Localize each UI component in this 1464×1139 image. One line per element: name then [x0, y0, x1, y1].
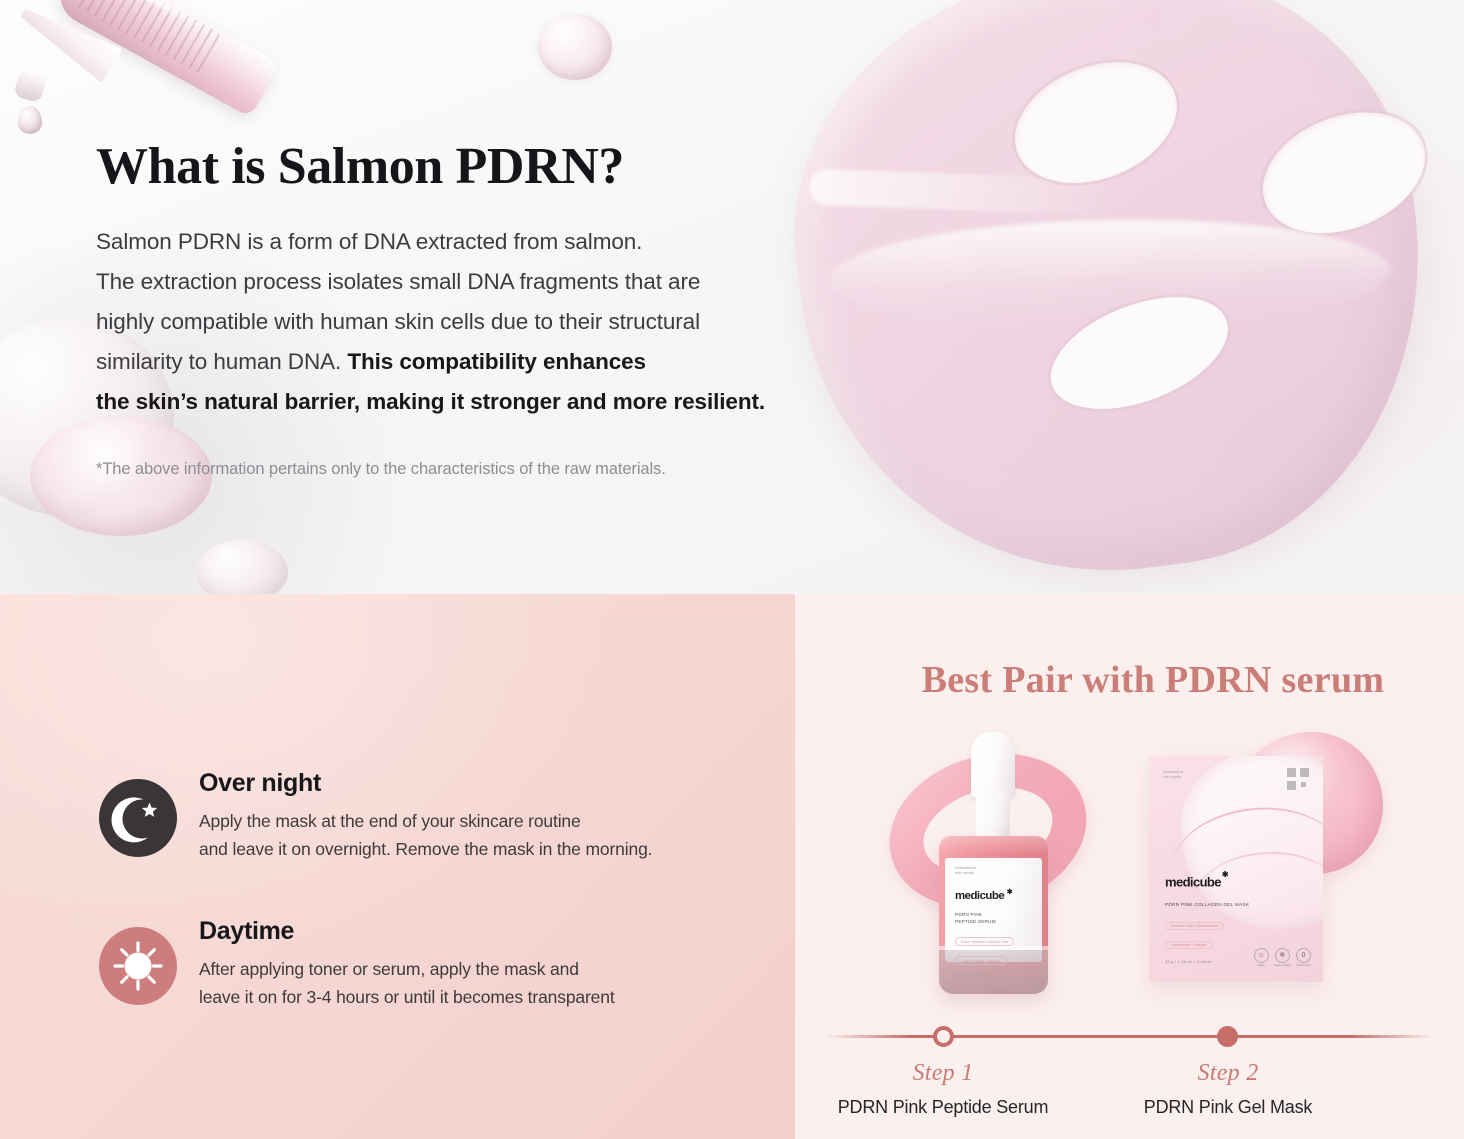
- usage-desc-line-2: leave it on for 3-4 hours or until it be…: [199, 987, 615, 1007]
- usage-desc-line-1: Apply the mask at the end of your skinca…: [199, 811, 581, 831]
- moon-icon: [99, 779, 177, 857]
- step-label: Step 2: [1098, 1060, 1358, 1087]
- pdrn-intro-section: What is Salmon PDRN? Salmon PDRN is a fo…: [0, 0, 1464, 594]
- step-marker-2: [1217, 1026, 1238, 1047]
- intro-line-4: similarity to human DNA.: [96, 349, 347, 374]
- best-pair-title: Best Pair with PDRN serum: [873, 658, 1433, 702]
- ingredient-pill: Sodium DNA | Niacinamide: [1165, 922, 1224, 931]
- usage-instructions-section: Over night Apply the mask at the end of …: [0, 594, 795, 1139]
- label-micro-line-1: Dedicated to: [955, 866, 976, 870]
- step-label: Step 1: [813, 1060, 1073, 1087]
- ingredient-pills: Sodium DNA | Niacinamide Hydrolyzed Coll…: [1165, 914, 1224, 952]
- step-1: Step 1 PDRN Pink Peptide Serum: [813, 1060, 1073, 1118]
- qr-code-icon: [1287, 768, 1309, 790]
- product-badges: ☺ Vegan ❄ Instant cooling 0 Alcohol free: [1254, 948, 1311, 968]
- page-title: What is Salmon PDRN?: [96, 138, 956, 196]
- ingredient-pill: Rose Hydrosol alcohol-free: [955, 937, 1014, 946]
- label-micro-copy: Dedicated to real results: [955, 866, 1034, 877]
- intro-line-2: The extraction process isolates small DN…: [96, 269, 700, 294]
- bottle-shoulder: [939, 836, 1048, 854]
- pouch-micro-line-2: real results: [1163, 775, 1181, 779]
- badge-caption: Vegan: [1254, 964, 1269, 968]
- label-micro-line-2: real results: [955, 871, 974, 875]
- intro-copy: What is Salmon PDRN? Salmon PDRN is a fo…: [96, 138, 956, 422]
- dropper-neck: [976, 792, 1010, 842]
- product-volume: 33 g / 1.16 oz × 1 sheet: [1165, 959, 1212, 964]
- intro-line-1: Salmon PDRN is a form of DNA extracted f…: [96, 229, 642, 254]
- product-name: PDRN PINK COLLAGEN GEL MASK: [1165, 902, 1249, 907]
- pouch-micro-copy: Dedicated to real results: [1163, 770, 1183, 781]
- step-marker-1: [933, 1026, 954, 1047]
- product-mask-image[interactable]: Dedicated to real results medicube✱ PDRN…: [1127, 736, 1387, 996]
- vegan-icon: ☺: [1254, 948, 1269, 963]
- usage-text: Over night Apply the mask at the end of …: [199, 767, 759, 863]
- brand-logo: medicube✱: [1165, 874, 1227, 889]
- usage-description: Apply the mask at the end of your skinca…: [199, 807, 759, 863]
- zero-icon: 0: [1296, 948, 1311, 963]
- serum-droplet: [18, 106, 42, 134]
- pipette-nozzle: [13, 71, 47, 104]
- usage-item-overnight: Over night Apply the mask at the end of …: [99, 767, 759, 895]
- snowflake-icon: ❄: [1275, 948, 1290, 963]
- product-name: PDRN PINK PEPTIDE SERUM: [955, 911, 1034, 925]
- intro-footnote: *The above information pertains only to …: [96, 460, 666, 479]
- brand-name: medicube: [1165, 874, 1221, 889]
- bottle-base: [939, 950, 1048, 994]
- pouch-micro-line-1: Dedicated to: [1163, 770, 1183, 774]
- badge-caption: Instant cooling: [1274, 964, 1291, 968]
- brand-mark-icon: ✱: [1222, 870, 1228, 879]
- badge-caption: Alcohol free: [1296, 964, 1311, 968]
- intro-paragraph: Salmon PDRN is a form of DNA extracted f…: [96, 222, 956, 422]
- usage-title: Over night: [199, 767, 759, 800]
- product-serum-image[interactable]: Dedicated to real results medicube✱ PDRN…: [888, 732, 1103, 1002]
- brand-mark-icon: ✱: [1007, 888, 1012, 896]
- brand-name: medicube: [955, 890, 1004, 902]
- ingredient-pill: Hydrolyzed Collagen: [1165, 941, 1213, 950]
- product-name-line-2: PEPTIDE SERUM: [955, 919, 996, 924]
- bubble-decoration: [538, 14, 612, 80]
- steps-timeline: Step 1 PDRN Pink Peptide Serum Step 2 PD…: [795, 1026, 1464, 1139]
- badge-vegan: ☺ Vegan: [1254, 948, 1269, 968]
- badge-alcohol-free: 0 Alcohol free: [1296, 948, 1311, 968]
- best-pair-section: Best Pair with PDRN serum Dedicated to r…: [795, 594, 1464, 1139]
- brand-logo: medicube✱: [955, 890, 1004, 902]
- product-name-line-1: PDRN PINK: [955, 912, 982, 917]
- step-2: Step 2 PDRN Pink Gel Mask: [1098, 1060, 1358, 1118]
- mask-pouch: Dedicated to real results medicube✱ PDRN…: [1149, 756, 1323, 982]
- badge-cooling: ❄ Instant cooling: [1274, 948, 1291, 968]
- steps-connector-line: [825, 1035, 1435, 1038]
- usage-desc-line-2: and leave it on overnight. Remove the ma…: [199, 839, 652, 859]
- usage-list: Over night Apply the mask at the end of …: [99, 767, 759, 1043]
- step-product-name: PDRN Pink Peptide Serum: [813, 1097, 1073, 1118]
- intro-bold-2: the skin’s natural barrier, making it st…: [96, 389, 765, 414]
- usage-desc-line-1: After applying toner or serum, apply the…: [199, 959, 579, 979]
- bottle-body: Dedicated to real results medicube✱ PDRN…: [939, 836, 1048, 994]
- product-images: Dedicated to real results medicube✱ PDRN…: [795, 726, 1464, 1016]
- sun-icon: [99, 927, 177, 1005]
- usage-title: Daytime: [199, 915, 759, 948]
- usage-text: Daytime After applying toner or serum, a…: [199, 915, 759, 1011]
- product-detail-page: What is Salmon PDRN? Salmon PDRN is a fo…: [0, 0, 1464, 1139]
- usage-description: After applying toner or serum, apply the…: [199, 955, 759, 1011]
- dropper-cap: [971, 732, 1015, 798]
- bubble-decoration: [196, 540, 288, 594]
- usage-item-daytime: Daytime After applying toner or serum, a…: [99, 915, 759, 1043]
- intro-bold-1: This compatibility enhances: [347, 349, 646, 374]
- intro-line-3: highly compatible with human skin cells …: [96, 309, 700, 334]
- step-product-name: PDRN Pink Gel Mask: [1098, 1097, 1358, 1118]
- serum-bottle: Dedicated to real results medicube✱ PDRN…: [935, 732, 1052, 994]
